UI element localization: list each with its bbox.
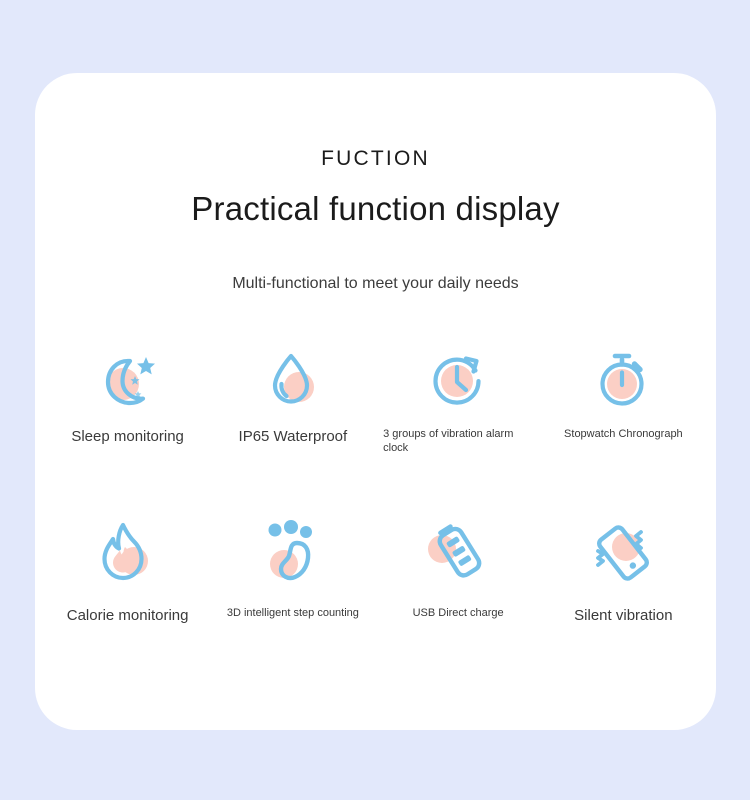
feature-showcase-page: FUCTION Practical function display Multi… bbox=[0, 0, 750, 800]
alarm-clock-icon bbox=[410, 341, 506, 417]
feature-item-usb-direct-charge[interactable]: USB Direct charge bbox=[376, 512, 541, 625]
eyebrow-text: FUCTION bbox=[35, 147, 716, 171]
feature-item-silent-vibration[interactable]: Silent vibration bbox=[541, 512, 706, 625]
feature-label: IP65 Waterproof bbox=[239, 427, 348, 446]
page-subtitle: Multi-functional to meet your daily need… bbox=[35, 275, 716, 293]
feature-label: Stopwatch Chronograph bbox=[564, 427, 683, 441]
feature-item-vibration-alarm-clock[interactable]: 3 groups of vibration alarm clock bbox=[376, 341, 541, 455]
battery-charge-icon bbox=[410, 512, 506, 594]
feature-label: 3 groups of vibration alarm clock bbox=[383, 427, 533, 455]
feature-item-stopwatch-chronograph[interactable]: Stopwatch Chronograph bbox=[541, 341, 706, 455]
feature-label: USB Direct charge bbox=[413, 606, 504, 620]
feature-item-ip65-waterproof[interactable]: IP65 Waterproof bbox=[210, 341, 375, 455]
stopwatch-icon bbox=[575, 341, 671, 417]
feature-label: Silent vibration bbox=[574, 606, 672, 625]
vibrating-phone-icon bbox=[575, 512, 671, 594]
water-drop-icon bbox=[245, 341, 341, 417]
feature-label: 3D intelligent step counting bbox=[227, 606, 359, 620]
moon-stars-icon bbox=[80, 341, 176, 417]
feature-item-sleep-monitoring[interactable]: Sleep monitoring bbox=[45, 341, 210, 455]
footprint-icon bbox=[245, 512, 341, 594]
feature-item-3d-step-counting[interactable]: 3D intelligent step counting bbox=[210, 512, 375, 625]
feature-label: Calorie monitoring bbox=[67, 606, 189, 625]
feature-grid: Sleep monitoring IP65 Waterproof bbox=[45, 341, 706, 625]
flame-icon bbox=[80, 512, 176, 594]
feature-card: FUCTION Practical function display Multi… bbox=[35, 73, 716, 730]
page-title: Practical function display bbox=[35, 190, 716, 228]
feature-item-calorie-monitoring[interactable]: Calorie monitoring bbox=[45, 512, 210, 625]
feature-label: Sleep monitoring bbox=[71, 427, 184, 446]
